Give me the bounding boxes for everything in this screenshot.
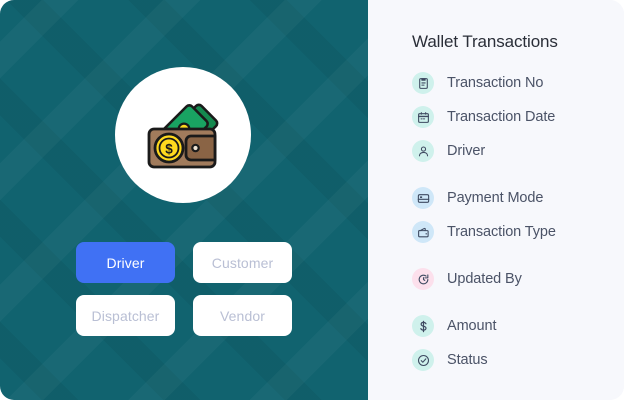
field-label: Amount — [447, 318, 496, 334]
field-label: Transaction Date — [447, 109, 555, 125]
left-illustration-panel: $ Driver Customer Dispatcher Vendor — [0, 0, 368, 400]
role-button-customer[interactable]: Customer — [193, 242, 292, 283]
check-circle-icon — [412, 349, 434, 371]
field-row-transaction-no[interactable]: Transaction No — [412, 66, 624, 100]
field-row-transaction-type[interactable]: Transaction Type — [412, 215, 624, 249]
person-icon — [412, 140, 434, 162]
field-label: Status — [447, 352, 488, 368]
role-button-driver[interactable]: Driver — [76, 242, 175, 283]
field-label: Driver — [447, 143, 485, 159]
wallet-transactions-card: $ Driver Customer Dispatcher Vendor Wall… — [0, 0, 624, 400]
wallet-transactions-panel: Wallet Transactions Transaction No — [368, 0, 624, 400]
calendar-icon — [412, 106, 434, 128]
dollar-icon — [412, 315, 434, 337]
wallet-icon — [412, 221, 434, 243]
field-row-payment-mode[interactable]: Payment Mode — [412, 181, 624, 215]
field-label: Transaction Type — [447, 224, 556, 240]
field-row-driver[interactable]: Driver — [412, 134, 624, 168]
field-row-transaction-date[interactable]: Transaction Date — [412, 100, 624, 134]
panel-title: Wallet Transactions — [412, 32, 624, 52]
role-button-dispatcher[interactable]: Dispatcher — [76, 295, 175, 336]
field-label: Updated By — [447, 271, 522, 287]
field-row-amount[interactable]: Amount — [412, 309, 624, 343]
role-button-vendor[interactable]: Vendor — [193, 295, 292, 336]
clipboard-icon — [412, 72, 434, 94]
svg-text:$: $ — [165, 142, 173, 157]
illustration-circle: $ — [115, 67, 251, 203]
field-row-status[interactable]: Status — [412, 343, 624, 377]
transaction-field-list: Transaction No Transaction Date — [412, 66, 624, 377]
field-label: Transaction No — [447, 75, 543, 91]
field-row-updated-by[interactable]: Updated By — [412, 262, 624, 296]
role-selector-group: Driver Customer Dispatcher Vendor — [76, 242, 292, 336]
refresh-clock-icon — [412, 268, 434, 290]
credit-card-icon — [412, 187, 434, 209]
field-label: Payment Mode — [447, 190, 543, 206]
wallet-with-cash-illustration: $ — [137, 95, 229, 175]
